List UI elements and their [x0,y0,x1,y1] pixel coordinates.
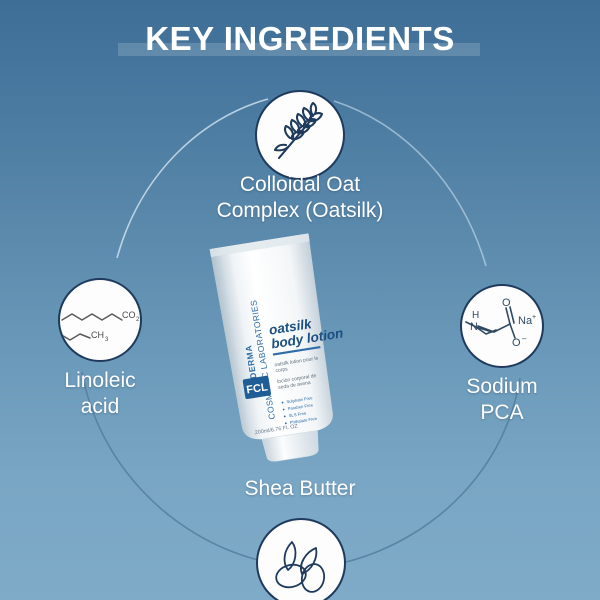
ingredient-label: Colloidal Oat Complex (Oatsilk) [150,172,450,224]
product-lotion-tube: FIXDERMA COSMETIC LABORATORIES FCL oatsi… [185,222,365,462]
svg-text:+: + [532,314,536,321]
shea-nut-icon [258,520,344,600]
ingredient-icon-circle: H N O Na + O – [460,284,544,368]
wheat-stalk-icon [257,92,343,178]
page-title: KEY INGREDIENTS [145,18,454,60]
formula-o-minus-label: O [512,337,521,349]
formula-n-label: N [470,321,478,333]
page-title-block: KEY INGREDIENTS [0,18,600,60]
ingredient-icon-circle: CO 2 H CH 3 [58,278,142,362]
key-ingredients-infographic: KEY INGREDIENTS [0,0,600,600]
formula-h-label: H [472,310,479,321]
formula-co2h-label: CO [122,310,136,320]
formula-ch3-label: CH [91,330,104,340]
linoleic-acid-structure-icon: CO 2 H CH 3 [60,280,140,360]
ingredient-label: Sodium PCA [412,374,592,426]
ingredient-icon-circle [255,90,345,180]
ingredient-icon-circle [256,518,346,600]
svg-text:–: – [522,334,527,343]
fcl-logo: FCL [242,375,271,399]
sodium-pca-structure-icon: H N O Na + O – [462,286,542,366]
svg-text:3: 3 [105,337,109,343]
ingredient-label: Shea Butter [150,476,450,502]
ingredient-label: Linoleic acid [10,368,190,420]
formula-na-label: Na [518,315,533,327]
formula-o-label: O [502,297,511,309]
